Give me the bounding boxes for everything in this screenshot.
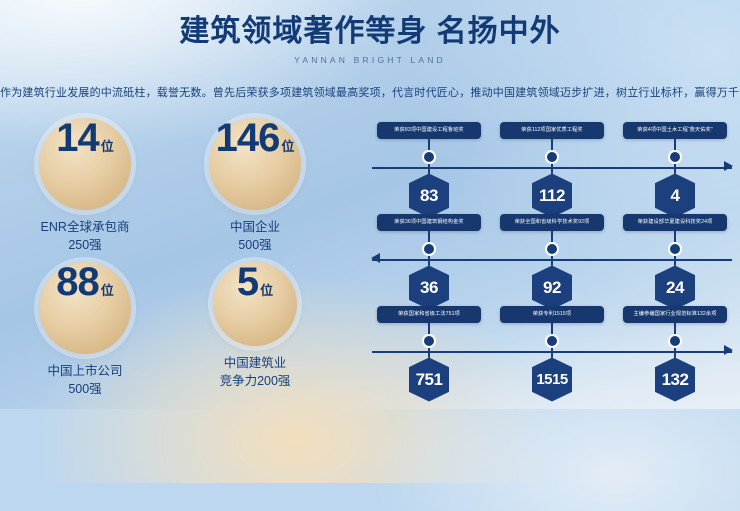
timeline-node-icon	[422, 150, 436, 164]
timeline-connector-lower	[674, 164, 676, 174]
stat-label-line2: 500强	[170, 237, 340, 255]
award-card-label: 荣获专利1515项	[500, 306, 604, 323]
timeline-node-icon	[422, 334, 436, 348]
timeline-node-icon	[545, 334, 559, 348]
stat-card: 146位中国企业500强	[170, 118, 340, 262]
award-count-badge: 132	[655, 358, 695, 402]
stats-grid: 14位ENR全球承包商250强146位中国企业500强88位中国上市公司500强…	[0, 118, 340, 406]
stat-unit: 位	[281, 136, 294, 155]
award-card-label: 荣获全国和省级科学技术奖92项	[500, 214, 604, 231]
timeline-item[interactable]: 荣获建设部华夏建设科技奖24项24	[623, 214, 727, 310]
timeline-connector-lower	[428, 256, 430, 266]
timeline-row: 荣获83项中国建设工程鲁班奖83荣获112项国家优质工程奖112荣获4项中国土木…	[372, 122, 732, 214]
stat-circle: 88位	[39, 262, 131, 354]
timeline-connector-lower	[551, 256, 553, 266]
page-title: 建筑领域著作等身 名扬中外	[0, 14, 740, 49]
page-header: 建筑领域著作等身 名扬中外 YANNAN BRIGHT LAND	[0, 14, 740, 65]
awards-timeline: 荣获83项中国建设工程鲁班奖83荣获112项国家优质工程奖112荣获4项中国土木…	[372, 122, 732, 400]
timeline-item[interactable]: 荣获全国和省级科学技术奖92项92	[500, 214, 604, 310]
timeline-item[interactable]: 荣获国家和省级工法751项751	[377, 306, 481, 402]
award-count-badge: 24	[655, 266, 695, 310]
timeline-node-icon	[668, 150, 682, 164]
timeline-node-icon	[545, 150, 559, 164]
timeline-connector-lower	[428, 348, 430, 358]
stat-card: 14位ENR全球承包商250强	[0, 118, 170, 262]
award-count-badge: 83	[409, 174, 449, 218]
award-count-badge: 751	[409, 358, 449, 402]
page-description: 作为建筑行业发展的中流砥柱，载誉无数。曾先后荣获多项建筑领域最高奖项，代言时代匠…	[0, 84, 740, 100]
timeline-row: 荣获36项中国建筑钢结构金奖36荣获全国和省级科学技术奖92项92荣获建设部华夏…	[372, 214, 732, 306]
timeline-node-icon	[668, 242, 682, 256]
stat-label-line1: 中国企业	[170, 219, 340, 237]
stat-number: 88	[56, 262, 99, 302]
stat-circle: 5位	[213, 262, 297, 346]
stat-label-line2: 500强	[0, 381, 170, 399]
timeline-item[interactable]: 荣获专利1515项1515	[500, 306, 604, 402]
award-count-badge: 1515	[532, 358, 572, 402]
timeline-item[interactable]: 荣获36项中国建筑钢结构金奖36	[377, 214, 481, 310]
stat-card: 88位中国上市公司500强	[0, 262, 170, 406]
award-card-label: 荣获83项中国建设工程鲁班奖	[377, 122, 481, 139]
timeline-item[interactable]: 主编参编国家行业规范标准132余项132	[623, 306, 727, 402]
stat-circle: 146位	[209, 118, 301, 210]
stat-label: 中国建筑业竞争力200强	[170, 355, 340, 391]
timeline-node-icon	[422, 242, 436, 256]
timeline-row: 荣获国家和省级工法751项751荣获专利1515项1515主编参编国家行业规范标…	[372, 306, 732, 398]
stat-number: 14	[56, 118, 99, 158]
timeline-item[interactable]: 荣获4项中国土木工程“詹天佑奖”4	[623, 122, 727, 218]
timeline-item[interactable]: 荣获112项国家优质工程奖112	[500, 122, 604, 218]
stat-label: 中国上市公司500强	[0, 363, 170, 399]
stat-label-line2: 竞争力200强	[170, 373, 340, 391]
stat-number: 5	[237, 262, 258, 302]
award-card-label: 荣获国家和省级工法751项	[377, 306, 481, 323]
stat-number: 146	[216, 118, 280, 158]
stat-circle: 14位	[39, 118, 131, 210]
stat-unit: 位	[101, 280, 114, 299]
timeline-item[interactable]: 荣获83项中国建设工程鲁班奖83	[377, 122, 481, 218]
stat-label-line1: ENR全球承包商	[0, 219, 170, 237]
timeline-connector-lower	[428, 164, 430, 174]
timeline-node-icon	[545, 242, 559, 256]
award-count-badge: 112	[532, 174, 572, 218]
timeline-node-icon	[668, 334, 682, 348]
stat-number-wrap: 146位	[209, 118, 301, 210]
stat-label: 中国企业500强	[170, 219, 340, 255]
award-card-label: 荣获112项国家优质工程奖	[500, 122, 604, 139]
stat-number-wrap: 14位	[39, 118, 131, 210]
page-subtitle: YANNAN BRIGHT LAND	[0, 55, 740, 65]
award-card-label: 荣获建设部华夏建设科技奖24项	[623, 214, 727, 231]
stat-label-line1: 中国上市公司	[0, 363, 170, 381]
award-count-badge: 92	[532, 266, 572, 310]
timeline-connector-lower	[674, 256, 676, 266]
award-count-badge: 4	[655, 174, 695, 218]
stat-number-wrap: 88位	[39, 262, 131, 354]
stat-unit: 位	[101, 136, 114, 155]
stat-label-line1: 中国建筑业	[170, 355, 340, 373]
stat-number-wrap: 5位	[213, 262, 297, 346]
timeline-connector-lower	[551, 164, 553, 174]
stat-label: ENR全球承包商250强	[0, 219, 170, 255]
award-card-label: 荣获4项中国土木工程“詹天佑奖”	[623, 122, 727, 139]
timeline-connector-lower	[674, 348, 676, 358]
stat-card: 5位中国建筑业竞争力200强	[170, 262, 340, 406]
stat-unit: 位	[260, 280, 273, 299]
award-card-label: 荣获36项中国建筑钢结构金奖	[377, 214, 481, 231]
timeline-connector-lower	[551, 348, 553, 358]
award-card-label: 主编参编国家行业规范标准132余项	[623, 306, 727, 323]
stat-label-line2: 250强	[0, 237, 170, 255]
award-count-badge: 36	[409, 266, 449, 310]
